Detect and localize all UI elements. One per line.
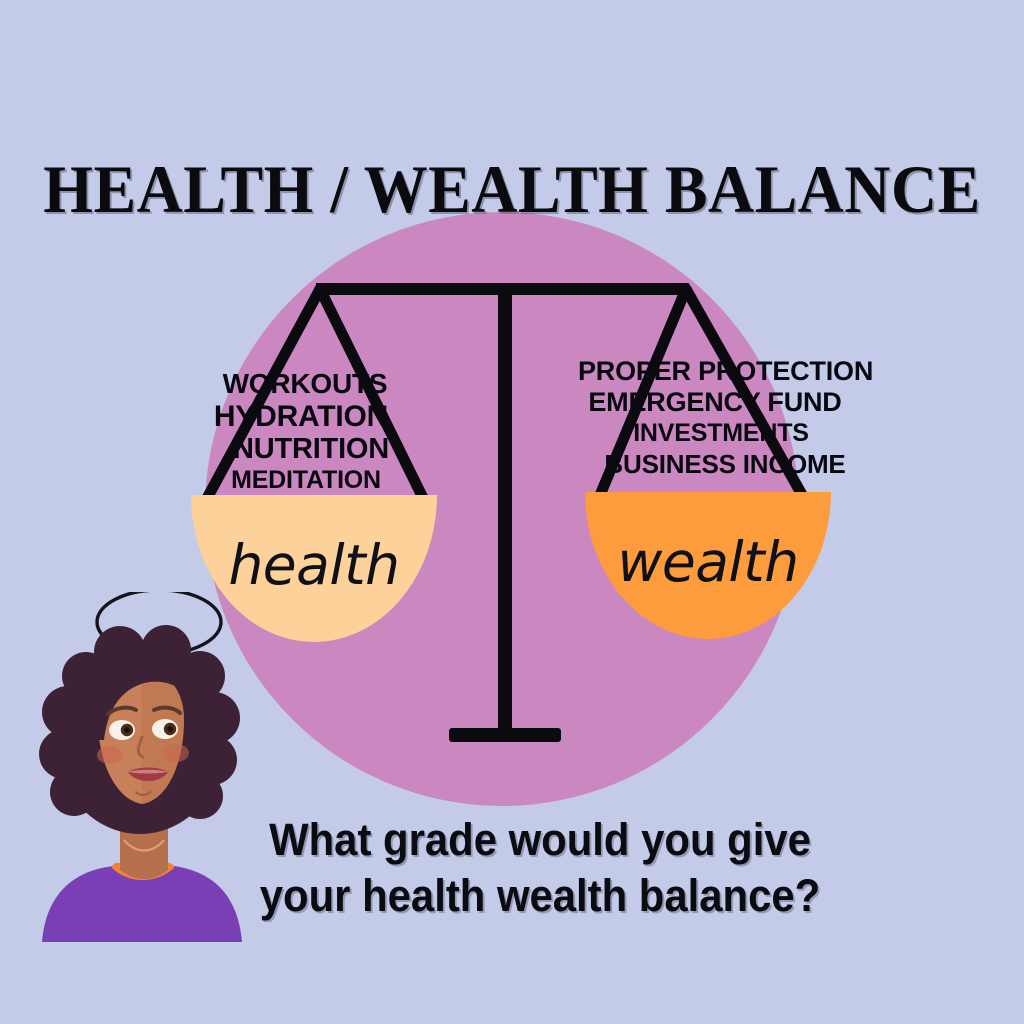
wealth-item: EMERGENCY FUND [562, 389, 868, 416]
infographic-canvas: HEALTH / WEALTH BALANCE health wealth WO… [0, 0, 1024, 1024]
question-line-2: your health wealth balance? [205, 868, 875, 924]
health-item: NUTRITION [187, 435, 435, 464]
health-items-list: WORKOUTS HYDRATION NUTRITION MEDITATION [175, 370, 435, 493]
health-pan-label: health [191, 533, 437, 597]
health-item: HYDRATION [167, 402, 435, 432]
character-neck [120, 828, 168, 879]
character-cheek-right [163, 744, 189, 762]
health-item: MEDITATION [177, 468, 435, 493]
question-text: What grade would you give your health we… [205, 812, 875, 925]
wealth-items-list: PROPER PROTECTION EMERGENCY FUND INVESTM… [578, 358, 868, 477]
health-item: WORKOUTS [175, 370, 435, 398]
wealth-item: BUSINESS INCOME [582, 451, 868, 477]
character-cheek-left [97, 746, 123, 764]
page-title: HEALTH / WEALTH BALANCE [31, 150, 994, 229]
wealth-item: PROPER PROTECTION [578, 358, 868, 385]
wealth-item: INVESTMENTS [574, 421, 868, 446]
question-line-1: What grade would you give [205, 812, 875, 868]
wealth-pan-label: wealth [585, 530, 831, 594]
